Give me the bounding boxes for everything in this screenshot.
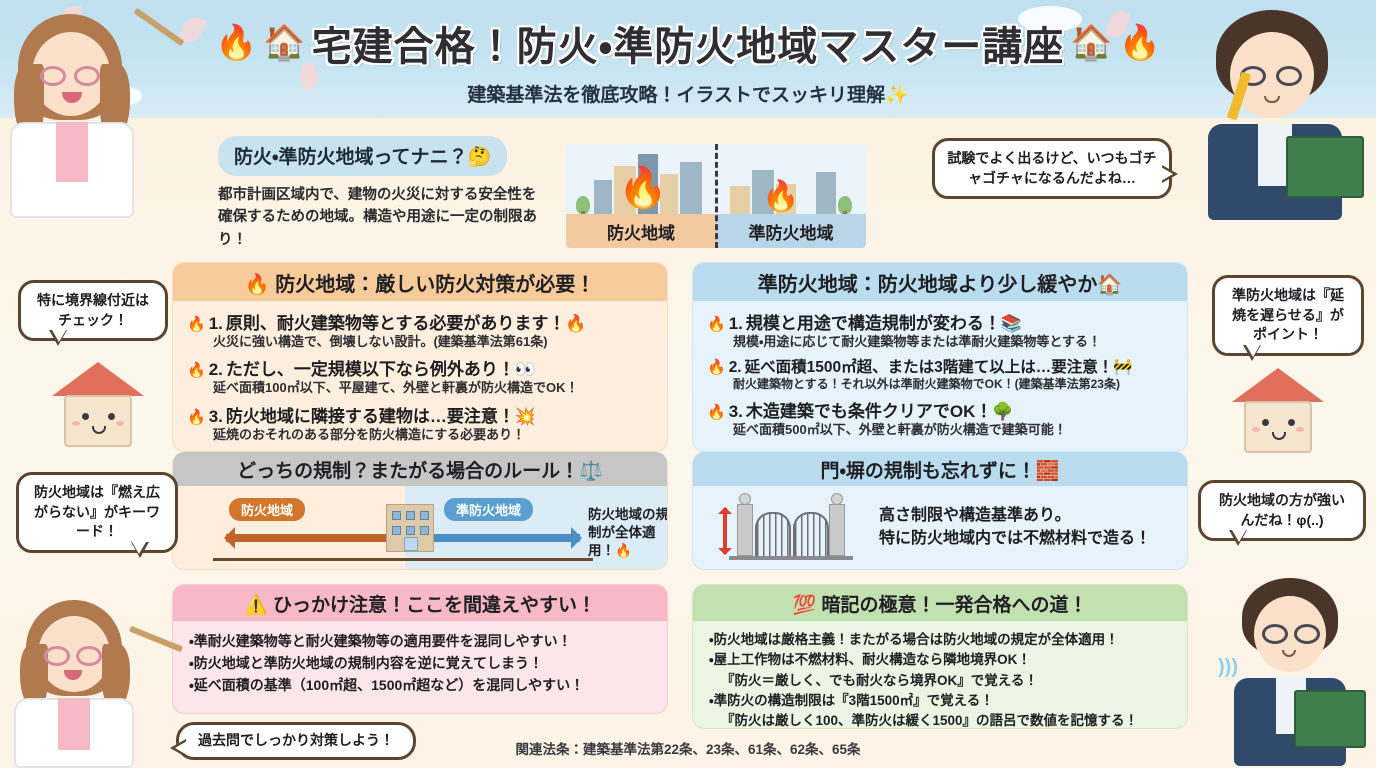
mascot-roof (52, 362, 144, 396)
gate-description-line2: 特に防火地域内では不燃材料で造る！ (879, 527, 1151, 550)
flame-icon-small: 🔥 (762, 182, 799, 212)
card-trap-warning: ⚠️ ひっかけ注意！ここを間違えやすい！ ・準耐火建築物等と耐火建築物等の適用要… (172, 584, 668, 714)
list-item-number: 2. (729, 359, 742, 377)
card-gate-fence: 門・塀の規制も忘れずに！🧱 高さ制限や構造基準あり。 特に防火地域内では不燃材料… (692, 452, 1188, 570)
character-student-top-right (1198, 8, 1376, 228)
intro-block: 防火・準防火地域ってナニ？🤔 都市計画区域内で、建物の火災に対する安全性を確保す… (218, 136, 548, 251)
diagram-chip-bouka: 防火地域 (229, 498, 305, 521)
list-item-number: 1. (729, 314, 743, 334)
mascot-face (1244, 401, 1312, 453)
gate-panel (793, 512, 829, 556)
page-subtitle: 建築基準法を徹底攻略！イラストでスッキリ理解✨ (0, 80, 1376, 107)
list-item-text: 規模と用途で構造規制が変わる！📚 (746, 309, 1022, 334)
card-trap-heading: ⚠️ ひっかけ注意！ここを間違えやすい！ (173, 585, 667, 621)
city-label-junbouka: 準防火地域 (716, 219, 866, 244)
list-item-sub: 延べ面積100㎡以下、平屋建て、外壁と軒裏が防火構造でOK！ (187, 380, 653, 396)
intro-body-text: 都市計画区域内で、建物の火災に対する安全性を確保するための地域。構造や用途に一定… (218, 184, 548, 251)
speech-bubble-student-top: 試験でよく出るけど、いつもゴチャゴチャになるんだよね… (932, 138, 1172, 199)
gate-illustration (715, 492, 865, 562)
which-regulation-note: 防火地域の規制が全体適用！🔥 (588, 506, 668, 561)
glasses-icon (1294, 624, 1320, 644)
page-title: 🔥 🏠 宅建合格！防火・準防火地域マスター講座 🏠 🔥 (0, 14, 1376, 72)
tree-icon (576, 196, 590, 214)
list-item-number: 3. (729, 402, 743, 422)
list-item-text: 延べ面積1500㎡超、または3階建て以上は…要注意！🚧 (745, 355, 1133, 377)
card-bouka-heading: 🔥 防火地域：厳しい防火対策が必要！ (173, 263, 667, 301)
card-bouka-list: 🔥 1. 原則、耐火建築物等とする必要があります！🔥 火災に強い構造で、倒壊しな… (173, 301, 667, 443)
list-item: ・防火地域は厳格主義！またがる場合は防火地域の規定が全体適用！ (709, 630, 1175, 650)
gate-ground-line (729, 556, 853, 560)
house-mascot-left (52, 362, 144, 448)
card-junbouka-list: 🔥 1. 規模と用途で構造規制が変わる！📚 規模・用途に応じて耐火建築物等または… (693, 301, 1187, 439)
inner-shirt (56, 122, 88, 182)
list-item-main: 🔥 3. 木造建築でも条件クリアでOK！🌳 (707, 397, 1173, 422)
flame-icon: 🔥 (187, 315, 206, 333)
speech-bubble-jun-point: 準防火地域は『延焼を遅らせる』がポイント！ (1212, 275, 1364, 356)
list-item-sub: 火災に強い構造で、倒壊しない設計。(建築基準法第61条) (187, 334, 653, 350)
gate-panel (755, 512, 791, 556)
glasses-icon (1262, 624, 1288, 644)
infographic-canvas: 🔥 🏠 宅建合格！防火・準防火地域マスター講座 🏠 🔥 建築基準法を徹底攻略！イ… (0, 0, 1376, 768)
list-item: 🔥 2. ただし、一定規模以下なら例外あり！👀 延べ面積100㎡以下、平屋建て、… (187, 355, 653, 396)
tree-icon (838, 196, 852, 214)
card-memorization-tips: 💯 暗記の極意！一発合格への道！ ・防火地域は厳格主義！またがる場合は防火地域の… (692, 584, 1188, 729)
arrow-left-icon (226, 534, 386, 542)
card-which-regulation: どっちの規制？またがる場合のルール！⚖️ 防火地域 準防火地域 防火地域の規制が… (172, 452, 668, 570)
city-label-bouka: 防火地域 (566, 219, 716, 244)
list-item-sub: 規模・用途に応じて耐火建築物等または準耐火建築物等とする！ (707, 334, 1173, 350)
diagram-chip-junbouka: 準防火地域 (444, 498, 533, 521)
building-shape (594, 180, 612, 214)
speech-bubble-tail (52, 330, 66, 349)
speech-bubble-tail (1232, 530, 1246, 549)
speech-bubble-stronger: 防火地域の方が強いんだね！φ(..) (1198, 480, 1366, 541)
list-item-text: 木造建築でも条件クリアでOK！🌳 (746, 397, 1014, 422)
card-which-heading: どっちの規制？またがる場合のルール！⚖️ (173, 452, 667, 486)
glasses-icon (76, 646, 102, 666)
list-item: ・防火地域と準防火地域の規制内容を逆に覚えてしまう！ (189, 652, 655, 674)
list-item-sub: 延べ面積500㎡以下、外壁と軒裏が防火構造で建築可能！ (707, 422, 1173, 438)
list-item-main: 🔥 2. ただし、一定規模以下なら例外あり！👀 (187, 355, 653, 380)
list-item-number: 2. (209, 360, 223, 380)
intro-pill-label: 防火・準防火地域ってナニ？🤔 (218, 136, 507, 176)
glasses-icon (44, 646, 70, 666)
list-item: ・準防火の構造制限は『3階1500㎡』で覚える！ (709, 691, 1175, 711)
gate-content-row: 高さ制限や構造基準あり。 特に防火地域内では不燃材料で造る！ (693, 486, 1187, 562)
card-memo-list: ・防火地域は厳格主義！またがる場合は防火地域の規定が全体適用！ ・屋上工作物は不… (693, 621, 1187, 729)
character-teacher-top-left (4, 10, 174, 215)
city-comparison-illustration: 🔥 🔥 防火地域 準防火地域 (566, 144, 866, 248)
list-item-sub: 延焼のおそれのある部分を防火構造にする必要あり！ (187, 427, 653, 443)
list-item-main: 🔥 1. 規模と用途で構造規制が変わる！📚 (707, 309, 1173, 334)
gate-pillar (829, 504, 845, 556)
footer-legal-reference: 関連法条：建築基準法第22条、23条、61条、62条、65条 (0, 738, 1376, 758)
flame-icon-large: 🔥 (618, 168, 668, 208)
speech-bubble-tail (1161, 167, 1180, 181)
list-item: 🔥 3. 木造建築でも条件クリアでOK！🌳 延べ面積500㎡以下、外壁と軒裏が防… (707, 397, 1173, 438)
list-item-main: 🔥 3. 防火地域に隣接する建物は…要注意！💥 (187, 402, 653, 427)
list-item-text: ただし、一定規模以下なら例外あり！👀 (226, 355, 536, 380)
card-trap-list: ・準耐火建築物等と耐火建築物等の適用要件を混同しやすい！ ・防火地域と準防火地域… (173, 621, 667, 696)
building-shape (680, 162, 702, 214)
header-banner: 🔥 🏠 宅建合格！防火・準防火地域マスター講座 🏠 🔥 建築基準法を徹底攻略！イ… (0, 0, 1376, 118)
gate-description: 高さ制限や構造基準あり。 特に防火地域内では不燃材料で造る！ (879, 504, 1151, 550)
list-item: ・延べ面積の基準（100㎡超、1500㎡超など）を混同しやすい！ (189, 674, 655, 696)
list-item: 🔥 3. 防火地域に隣接する建物は…要注意！💥 延焼のおそれのある部分を防火構造… (187, 402, 653, 443)
card-gate-heading: 門・塀の規制も忘れずに！🧱 (693, 452, 1187, 486)
gate-description-line1: 高さ制限や構造基準あり。 (879, 504, 1151, 527)
list-item: 『防火は厳しく100、準防火は緩く1500』の語呂で数値を記憶する！ (709, 711, 1175, 729)
sparkle-icon: ))) (1218, 656, 1238, 679)
flame-icon: 🔥 (707, 358, 726, 376)
list-item: 『防火＝厳しく、でも耐火なら境界OK』で覚える！ (709, 671, 1175, 691)
speech-bubble-border-check: 特に境界線付近はチェック！ (18, 280, 168, 341)
flame-icon: 🔥 (707, 403, 726, 421)
speech-bubble-tail (132, 542, 146, 561)
building-shape (816, 172, 836, 214)
mascot-roof (1232, 368, 1324, 402)
card-junbouka-heading: 準防火地域：防火地域より少し緩やか🏠 (693, 263, 1187, 301)
list-item: 🔥 2. 延べ面積1500㎡超、または3階建て以上は…要注意！🚧 耐火建築物とす… (707, 355, 1173, 392)
flame-icon: 🔥 (215, 26, 257, 60)
zone-divider-line (715, 144, 718, 248)
straddling-building-icon (386, 504, 434, 552)
building-shape (730, 186, 750, 214)
list-item-sub: 耐火建築物とする！それ以外は準耐火建築物でOK！(建築基準法第23条) (707, 377, 1173, 392)
list-item-main: 🔥 1. 原則、耐火建築物等とする必要があります！🔥 (187, 309, 653, 334)
list-item-text: 原則、耐火建築物等とする必要があります！🔥 (226, 309, 587, 334)
flame-icon: 🔥 (707, 315, 726, 333)
glasses-icon (1276, 66, 1302, 86)
which-regulation-diagram: 防火地域 準防火地域 防火地域の規制が全体適用！🔥 (173, 486, 667, 570)
card-junbouka-chiiki: 準防火地域：防火地域より少し緩やか🏠 🔥 1. 規模と用途で構造規制が変わる！📚… (692, 262, 1188, 452)
pointer-stick-icon (129, 626, 183, 653)
glasses-icon (40, 66, 66, 86)
list-item-number: 1. (209, 314, 223, 334)
flame-icon: 🔥 (187, 408, 206, 426)
notebook-icon (1286, 136, 1364, 198)
list-item: ・屋上工作物は不燃材料、耐火構造なら隣地境界OK！ (709, 650, 1175, 670)
list-item-text: 防火地域に隣接する建物は…要注意！💥 (226, 402, 536, 427)
gate-pillar (737, 504, 753, 556)
card-bouka-chiiki: 🔥 防火地域：厳しい防火対策が必要！ 🔥 1. 原則、耐火建築物等とする必要があ… (172, 262, 668, 452)
speech-bubble-keyword: 防火地域は『燃え広がらない』がキーワード！ (16, 472, 178, 553)
house-mascot-right (1232, 368, 1324, 454)
house-icon: 🏠 (1070, 26, 1112, 60)
speech-bubble-tail (1246, 345, 1260, 364)
list-item: 🔥 1. 規模と用途で構造規制が変わる！📚 規模・用途に応じて耐火建築物等または… (707, 309, 1173, 350)
diagram-baseline (213, 558, 593, 561)
card-memo-heading: 💯 暗記の極意！一発合格への道！ (693, 585, 1187, 621)
list-item-main: 🔥 2. 延べ面積1500㎡超、または3階建て以上は…要注意！🚧 (707, 355, 1173, 377)
list-item: ・準耐火建築物等と耐火建築物等の適用要件を混同しやすい！ (189, 630, 655, 652)
arrow-right-icon (434, 534, 580, 542)
house-icon: 🏠 (263, 26, 305, 60)
list-item-number: 3. (209, 407, 223, 427)
height-arrow-icon (723, 508, 727, 554)
list-item: 🔥 1. 原則、耐火建築物等とする必要があります！🔥 火災に強い構造で、倒壊しな… (187, 309, 653, 350)
flame-icon: 🔥 (187, 361, 206, 379)
flame-icon: 🔥 (1119, 26, 1161, 60)
mascot-face (64, 395, 132, 447)
glasses-icon (74, 66, 100, 86)
page-title-text: 宅建合格！防火・準防火地域マスター講座 (312, 14, 1065, 72)
